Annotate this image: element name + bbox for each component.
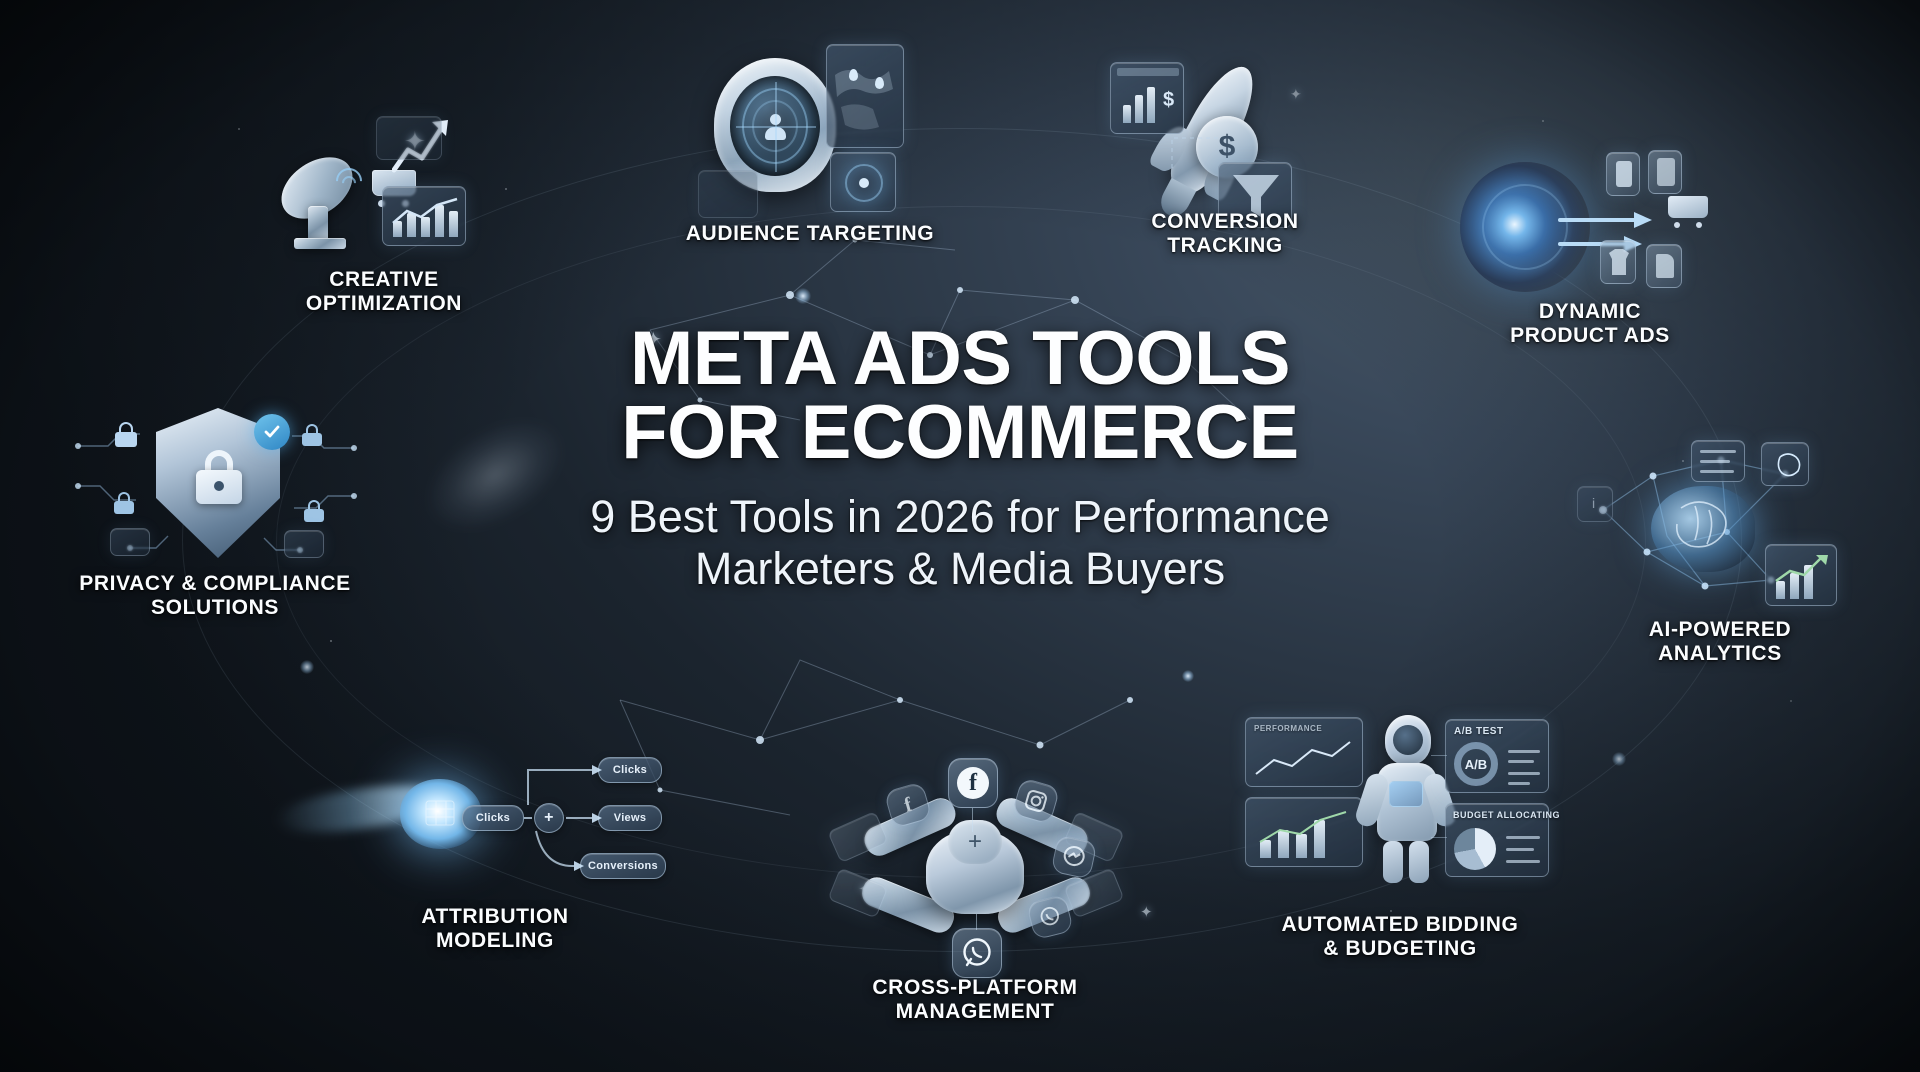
- feature-label-line1: AUDIENCE TARGETING: [686, 222, 934, 246]
- padlock-icon: [194, 450, 244, 506]
- feature-label: CONVERSION TRACKING: [1151, 210, 1298, 258]
- subtitle-line2: Marketers & Media Buyers: [430, 543, 1490, 594]
- feature-cross-platform-management[interactable]: + f: [830, 758, 1120, 1048]
- feature-dynamic-product-ads[interactable]: DYNAMIC PRODUCT ADS: [1460, 148, 1720, 378]
- lock-icon: [304, 500, 324, 522]
- lock-icon: [114, 422, 138, 448]
- feature-label-line2: ANALYTICS: [1649, 642, 1792, 666]
- feature-label-line2: & BUDGETING: [1282, 937, 1519, 961]
- feature-label-line1: CREATIVE: [306, 268, 462, 292]
- ab-test-title: A/B TEST: [1454, 726, 1504, 737]
- feature-automated-bidding-budgeting[interactable]: PERFORMANCE: [1245, 715, 1555, 975]
- product-card: [1646, 244, 1682, 288]
- budget-allocation-panel[interactable]: BUDGET ALLOCATING: [1445, 803, 1549, 877]
- ab-test-value: A/B: [1465, 757, 1487, 772]
- map-panel: [826, 44, 904, 148]
- list-panel: [1691, 440, 1745, 482]
- feature-label-line2: TRACKING: [1151, 234, 1298, 258]
- target-panel: [830, 152, 896, 212]
- feature-label-line2: MODELING: [421, 929, 568, 953]
- feature-label: AUDIENCE TARGETING: [686, 222, 934, 246]
- ab-test-panel[interactable]: A/B TEST A/B: [1445, 719, 1549, 793]
- glow-node: [300, 660, 314, 674]
- attribution-output-node[interactable]: Clicks: [598, 757, 662, 783]
- chart-panel: [382, 186, 466, 246]
- attribution-output-node[interactable]: Conversions: [580, 853, 666, 879]
- feature-label-line1: CONVERSION: [1151, 210, 1298, 234]
- whatsapp-icon[interactable]: [952, 928, 1002, 978]
- bar-chart-panel: [1245, 797, 1363, 867]
- feature-label-line1: AUTOMATED BIDDING: [1282, 913, 1519, 937]
- product-card: [1600, 240, 1636, 284]
- feature-label: AUTOMATED BIDDING & BUDGETING: [1282, 913, 1519, 961]
- attribution-operator-node[interactable]: +: [534, 803, 564, 833]
- feature-label-line1: ATTRIBUTION: [421, 905, 568, 929]
- feature-label-line2: OPTIMIZATION: [306, 292, 462, 316]
- feature-label-line1: AI-POWERED: [1649, 618, 1792, 642]
- astronaut-target-map-icon: [690, 40, 930, 230]
- feature-label-line1: CROSS-PLATFORM: [872, 976, 1077, 1000]
- feature-label: DYNAMIC PRODUCT ADS: [1510, 300, 1670, 348]
- feature-label-line1: PRIVACY & COMPLIANCE: [79, 572, 350, 596]
- brain-icon: [1651, 486, 1755, 572]
- feature-label: CREATIVE OPTIMIZATION: [306, 268, 462, 316]
- glow-node: [795, 288, 811, 304]
- glow-node: [1612, 752, 1626, 766]
- star: [505, 188, 507, 190]
- satellite-hub-social-icon: + f: [830, 758, 1120, 978]
- comet-flowchart-icon: Clicks + Clicks Views Conversions: [330, 745, 660, 925]
- feature-ai-powered-analytics[interactable]: i AI-POWERED ANALYTICS: [1575, 440, 1865, 690]
- hub-plus-icon: +: [968, 828, 982, 856]
- verified-check-icon: [254, 414, 290, 450]
- feature-label-line2: SOLUTIONS: [79, 596, 350, 620]
- sparkle-icon: ✦: [1140, 905, 1153, 920]
- ai-chip-panel: [1761, 442, 1809, 486]
- shield-lock-circuit-icon: [70, 400, 360, 580]
- star: [238, 128, 240, 130]
- feature-label: PRIVACY & COMPLIANCE SOLUTIONS: [79, 572, 350, 620]
- feature-label: ATTRIBUTION MODELING: [421, 905, 568, 953]
- product-card: [1648, 150, 1682, 194]
- feature-privacy-compliance-solutions[interactable]: PRIVACY & COMPLIANCE SOLUTIONS: [70, 400, 360, 650]
- star: [1790, 700, 1792, 702]
- astronaut-figure: [1367, 715, 1445, 885]
- feature-label-line2: PRODUCT ADS: [1510, 324, 1670, 348]
- star: [1542, 120, 1544, 122]
- title-line1: META ADS TOOLS: [430, 322, 1490, 396]
- astronaut-dashboard-ab-test-icon: PERFORMANCE: [1245, 715, 1555, 925]
- subtitle-line1: 9 Best Tools in 2026 for Performance: [430, 491, 1490, 542]
- feature-label: CROSS-PLATFORM MANAGEMENT: [872, 976, 1077, 1024]
- feature-label-line2: MANAGEMENT: [872, 1000, 1077, 1024]
- glow-node: [1182, 670, 1194, 682]
- lock-icon: [302, 424, 322, 446]
- feature-audience-targeting[interactable]: AUDIENCE TARGETING: [690, 40, 930, 280]
- satellite-dish-cart-chart-icon: [268, 110, 500, 270]
- performance-panel: PERFORMANCE: [1245, 717, 1363, 787]
- attribution-output-node[interactable]: Views: [598, 805, 662, 831]
- feature-label-line1: DYNAMIC: [1510, 300, 1670, 324]
- page-title: META ADS TOOLS FOR ECOMMERCE: [430, 322, 1490, 469]
- feature-attribution-modeling[interactable]: Clicks + Clicks Views Conversions: [330, 745, 660, 975]
- feature-label: AI-POWERED ANALYTICS: [1649, 618, 1792, 666]
- portal-product-cards-cart-icon: [1460, 148, 1720, 318]
- feature-conversion-tracking[interactable]: $ $ CONVERSION TRACKING: [1110, 50, 1340, 280]
- budget-title: BUDGET ALLOCATING: [1453, 810, 1560, 820]
- infographic-canvas: ✦ ✦ ✦ ✦ ✦: [0, 0, 1920, 1072]
- feature-creative-optimization[interactable]: CREATIVE OPTIMIZATION: [268, 110, 500, 330]
- lock-icon: [114, 492, 134, 514]
- revenue-panel: $: [1110, 62, 1184, 134]
- brain-network-chart-icon: i: [1575, 440, 1865, 630]
- attribution-source-node[interactable]: Clicks: [462, 805, 524, 831]
- title-line2: FOR ECOMMERCE: [430, 396, 1490, 470]
- product-card: [1606, 152, 1640, 196]
- page-subtitle: 9 Best Tools in 2026 for Performance Mar…: [430, 491, 1490, 594]
- facebook-icon[interactable]: f: [948, 758, 998, 808]
- shopping-cart-icon: [1666, 192, 1712, 232]
- growth-chart-panel: [1765, 544, 1837, 606]
- title-block: META ADS TOOLS FOR ECOMMERCE 9 Best Tool…: [430, 322, 1490, 594]
